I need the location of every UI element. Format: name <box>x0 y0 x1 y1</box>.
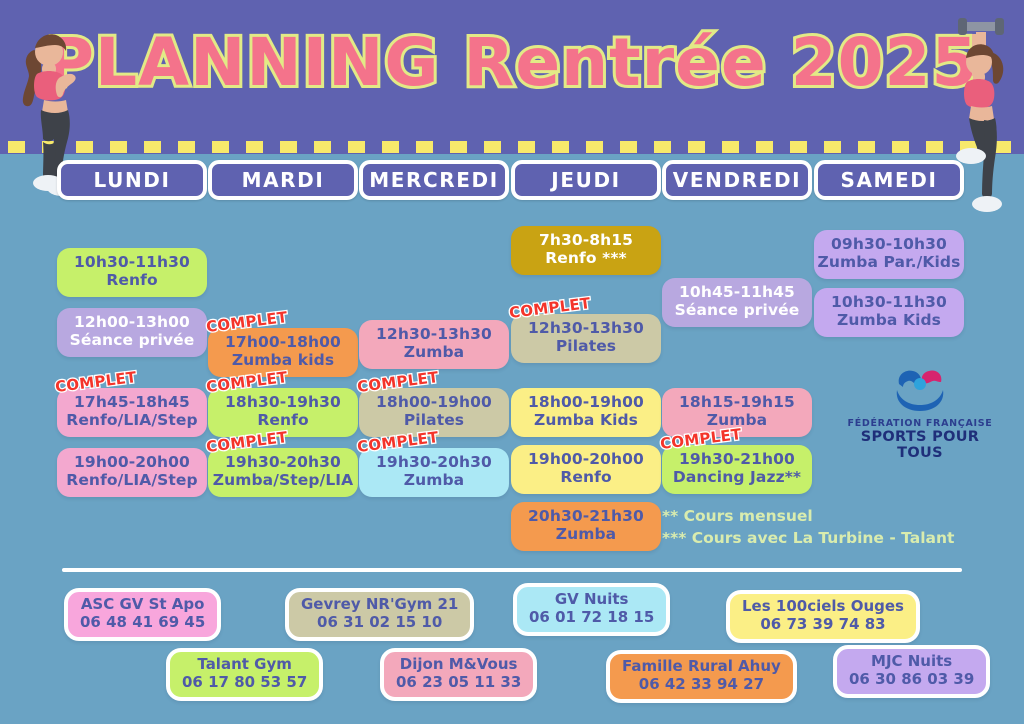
class-time: 10h30-11h30 <box>59 254 205 272</box>
contact-chip[interactable]: GV Nuits06 01 72 18 15 <box>513 583 670 636</box>
stripe-dash <box>654 141 671 153</box>
stripe-dash <box>314 141 331 153</box>
class-time: 19h30-20h30 <box>210 454 356 472</box>
class-name: Renfo <box>513 469 659 487</box>
contact-chip[interactable]: MJC Nuits06 30 86 03 39 <box>833 645 990 698</box>
stripe-dash <box>144 141 161 153</box>
day-column-mardi: MARDI17h00-18h00Zumba kidsCOMPLET18h30-1… <box>208 160 358 200</box>
stripe-dash <box>552 141 569 153</box>
day-column-samedi: SAMEDI09h30-10h30Zumba Par./Kids10h30-11… <box>814 160 964 200</box>
stripe-dash <box>688 141 705 153</box>
class-name: Séance privée <box>59 332 205 350</box>
stripe-dash <box>892 141 909 153</box>
contact-phone: 06 31 02 15 10 <box>301 614 458 632</box>
class-name: Zumba/Step/LIA <box>210 472 356 490</box>
contact-phone: 06 73 39 74 83 <box>742 616 904 634</box>
class-time: 17h45-18h45 <box>59 394 205 412</box>
logo-line-2: SPORTS POUR TOUS <box>846 429 994 461</box>
stripe-dash <box>756 141 773 153</box>
footnote-1: ** Cours mensuel <box>662 505 992 527</box>
stripe-dash <box>450 141 467 153</box>
footnotes: ** Cours mensuel *** Cours avec La Turbi… <box>662 505 992 550</box>
day-header-lundi[interactable]: LUNDI <box>57 160 207 200</box>
stripe-dash <box>484 141 501 153</box>
federation-logo: FÉDÉRATION FRANÇAISE SPORTS POUR TOUS <box>846 368 994 461</box>
stripe-dash <box>824 141 841 153</box>
contact-chip[interactable]: Gevrey NR'Gym 2106 31 02 15 10 <box>285 588 474 641</box>
stripe-dash <box>790 141 807 153</box>
class-time: 7h30-8h15 <box>513 232 659 250</box>
day-header-vendredi[interactable]: VENDREDI <box>662 160 812 200</box>
class-time: 09h30-10h30 <box>816 236 962 254</box>
contact-phone: 06 23 05 11 33 <box>396 674 521 692</box>
footnote-2: *** Cours avec La Turbine - Talant <box>662 527 992 549</box>
day-column-vendredi: VENDREDI10h45-11h45Séance privée18h15-19… <box>662 160 812 200</box>
class-slot[interactable]: 7h30-8h15Renfo *** <box>511 226 661 275</box>
contact-chip[interactable]: ASC GV St Apo06 48 41 69 45 <box>64 588 221 641</box>
contact-phone: 06 17 80 53 57 <box>182 674 307 692</box>
contact-name: Les 100ciels Ouges <box>742 598 904 616</box>
class-name: Renfo/LIA/Step <box>59 412 205 430</box>
contact-name: Gevrey NR'Gym 21 <box>301 596 458 614</box>
class-slot[interactable]: 12h30-13h30PilatesCOMPLET <box>511 314 661 363</box>
class-time: 18h30-19h30 <box>210 394 356 412</box>
stripe-dash <box>586 141 603 153</box>
class-name: Zumba Kids <box>816 312 962 330</box>
class-slot[interactable]: 19h30-20h30ZumbaCOMPLET <box>359 448 509 497</box>
class-time: 18h00-19h00 <box>513 394 659 412</box>
stripe-dash <box>518 141 535 153</box>
day-header-mercredi[interactable]: MERCREDI <box>359 160 509 200</box>
class-name: Renfo *** <box>513 250 659 268</box>
class-name: Renfo <box>210 412 356 430</box>
class-name: Renfo/LIA/Step <box>59 472 205 490</box>
class-name: Zumba Par./Kids <box>816 254 962 272</box>
class-name: Renfo <box>59 272 205 290</box>
stripe-dash <box>722 141 739 153</box>
contact-phone: 06 30 86 03 39 <box>849 671 974 689</box>
stripe-dash <box>212 141 229 153</box>
stripe-dash <box>110 141 127 153</box>
class-slot[interactable]: 12h30-13h30Zumba <box>359 320 509 369</box>
stripe-dash <box>280 141 297 153</box>
class-slot[interactable]: 18h00-19h00Zumba Kids <box>511 388 661 437</box>
contact-phone: 06 48 41 69 45 <box>80 614 205 632</box>
class-name: Pilates <box>513 338 659 356</box>
class-name: Zumba <box>361 344 507 362</box>
contact-name: GV Nuits <box>529 591 654 609</box>
poster-title: PLANNING Rentrée 2025 <box>0 22 1024 105</box>
schedule-grid: LUNDI10h30-11h30Renfo12h00-13h00Séance p… <box>0 160 1024 560</box>
dashed-stripe-divider <box>0 138 1024 154</box>
contact-chip[interactable]: Les 100ciels Ouges06 73 39 74 83 <box>726 590 920 643</box>
class-slot[interactable]: 19h30-21h00Dancing Jazz**COMPLET <box>662 445 812 494</box>
stripe-dash <box>858 141 875 153</box>
class-name: Zumba <box>361 472 507 490</box>
class-name: Zumba <box>513 526 659 544</box>
class-slot[interactable]: 17h45-18h45Renfo/LIA/StepCOMPLET <box>57 388 207 437</box>
day-header-samedi[interactable]: SAMEDI <box>814 160 964 200</box>
stripe-dash <box>246 141 263 153</box>
stripe-dash <box>178 141 195 153</box>
day-header-mardi[interactable]: MARDI <box>208 160 358 200</box>
contact-phone: 06 42 33 94 27 <box>622 676 781 694</box>
class-name: Zumba kids <box>210 352 356 370</box>
class-time: 19h00-20h00 <box>513 451 659 469</box>
class-time: 18h00-19h00 <box>361 394 507 412</box>
section-divider <box>62 568 962 572</box>
class-slot[interactable]: 12h00-13h00Séance privée <box>57 308 207 357</box>
class-name: Séance privée <box>664 302 810 320</box>
stripe-dash <box>348 141 365 153</box>
class-time: 17h00-18h00 <box>210 334 356 352</box>
class-time: 19h00-20h00 <box>59 454 205 472</box>
class-time: 12h30-13h30 <box>361 326 507 344</box>
class-time: 19h30-20h30 <box>361 454 507 472</box>
day-column-mercredi: MERCREDI12h30-13h30Zumba18h00-19h00Pilat… <box>359 160 509 200</box>
class-slot[interactable]: 10h30-11h30Renfo <box>57 248 207 297</box>
class-name: Zumba Kids <box>513 412 659 430</box>
class-name: Dancing Jazz** <box>664 469 810 487</box>
contact-phone: 06 01 72 18 15 <box>529 609 654 627</box>
contact-name: Dijon M&Vous <box>396 656 521 674</box>
class-time: 12h30-13h30 <box>513 320 659 338</box>
contact-chip[interactable]: Dijon M&Vous06 23 05 11 33 <box>380 648 537 701</box>
stripe-dash <box>382 141 399 153</box>
class-slot[interactable]: 10h45-11h45Séance privée <box>662 278 812 327</box>
contact-name: Famille Rural Ahuy <box>622 658 781 676</box>
stripe-dash <box>620 141 637 153</box>
class-time: 10h45-11h45 <box>664 284 810 302</box>
contact-name: MJC Nuits <box>849 653 974 671</box>
class-name: Pilates <box>361 412 507 430</box>
contact-chip[interactable]: Talant Gym06 17 80 53 57 <box>166 648 323 701</box>
class-slot[interactable]: 20h30-21h30Zumba <box>511 502 661 551</box>
class-time: 12h00-13h00 <box>59 314 205 332</box>
class-slot[interactable]: 19h00-20h00Renfo <box>511 445 661 494</box>
contact-name: Talant Gym <box>182 656 307 674</box>
day-column-jeudi: JEUDI7h30-8h15Renfo ***12h30-13h30Pilate… <box>511 160 661 200</box>
class-time: 10h30-11h30 <box>816 294 962 312</box>
class-slot[interactable]: 09h30-10h30Zumba Par./Kids <box>814 230 964 279</box>
sports-pour-tous-logo-icon <box>889 368 951 412</box>
class-slot[interactable]: 10h30-11h30Zumba Kids <box>814 288 964 337</box>
day-column-lundi: LUNDI10h30-11h30Renfo12h00-13h00Séance p… <box>57 160 207 200</box>
contact-name: ASC GV St Apo <box>80 596 205 614</box>
logo-line-1: FÉDÉRATION FRANÇAISE <box>846 418 994 429</box>
class-time: 20h30-21h30 <box>513 508 659 526</box>
class-time: 19h30-21h00 <box>664 451 810 469</box>
class-slot[interactable]: 19h00-20h00Renfo/LIA/Step <box>57 448 207 497</box>
day-header-jeudi[interactable]: JEUDI <box>511 160 661 200</box>
stripe-dash <box>416 141 433 153</box>
class-slot[interactable]: 19h30-20h30Zumba/Step/LIACOMPLET <box>208 448 358 497</box>
class-time: 18h15-19h15 <box>664 394 810 412</box>
contact-chip[interactable]: Famille Rural Ahuy06 42 33 94 27 <box>606 650 797 703</box>
